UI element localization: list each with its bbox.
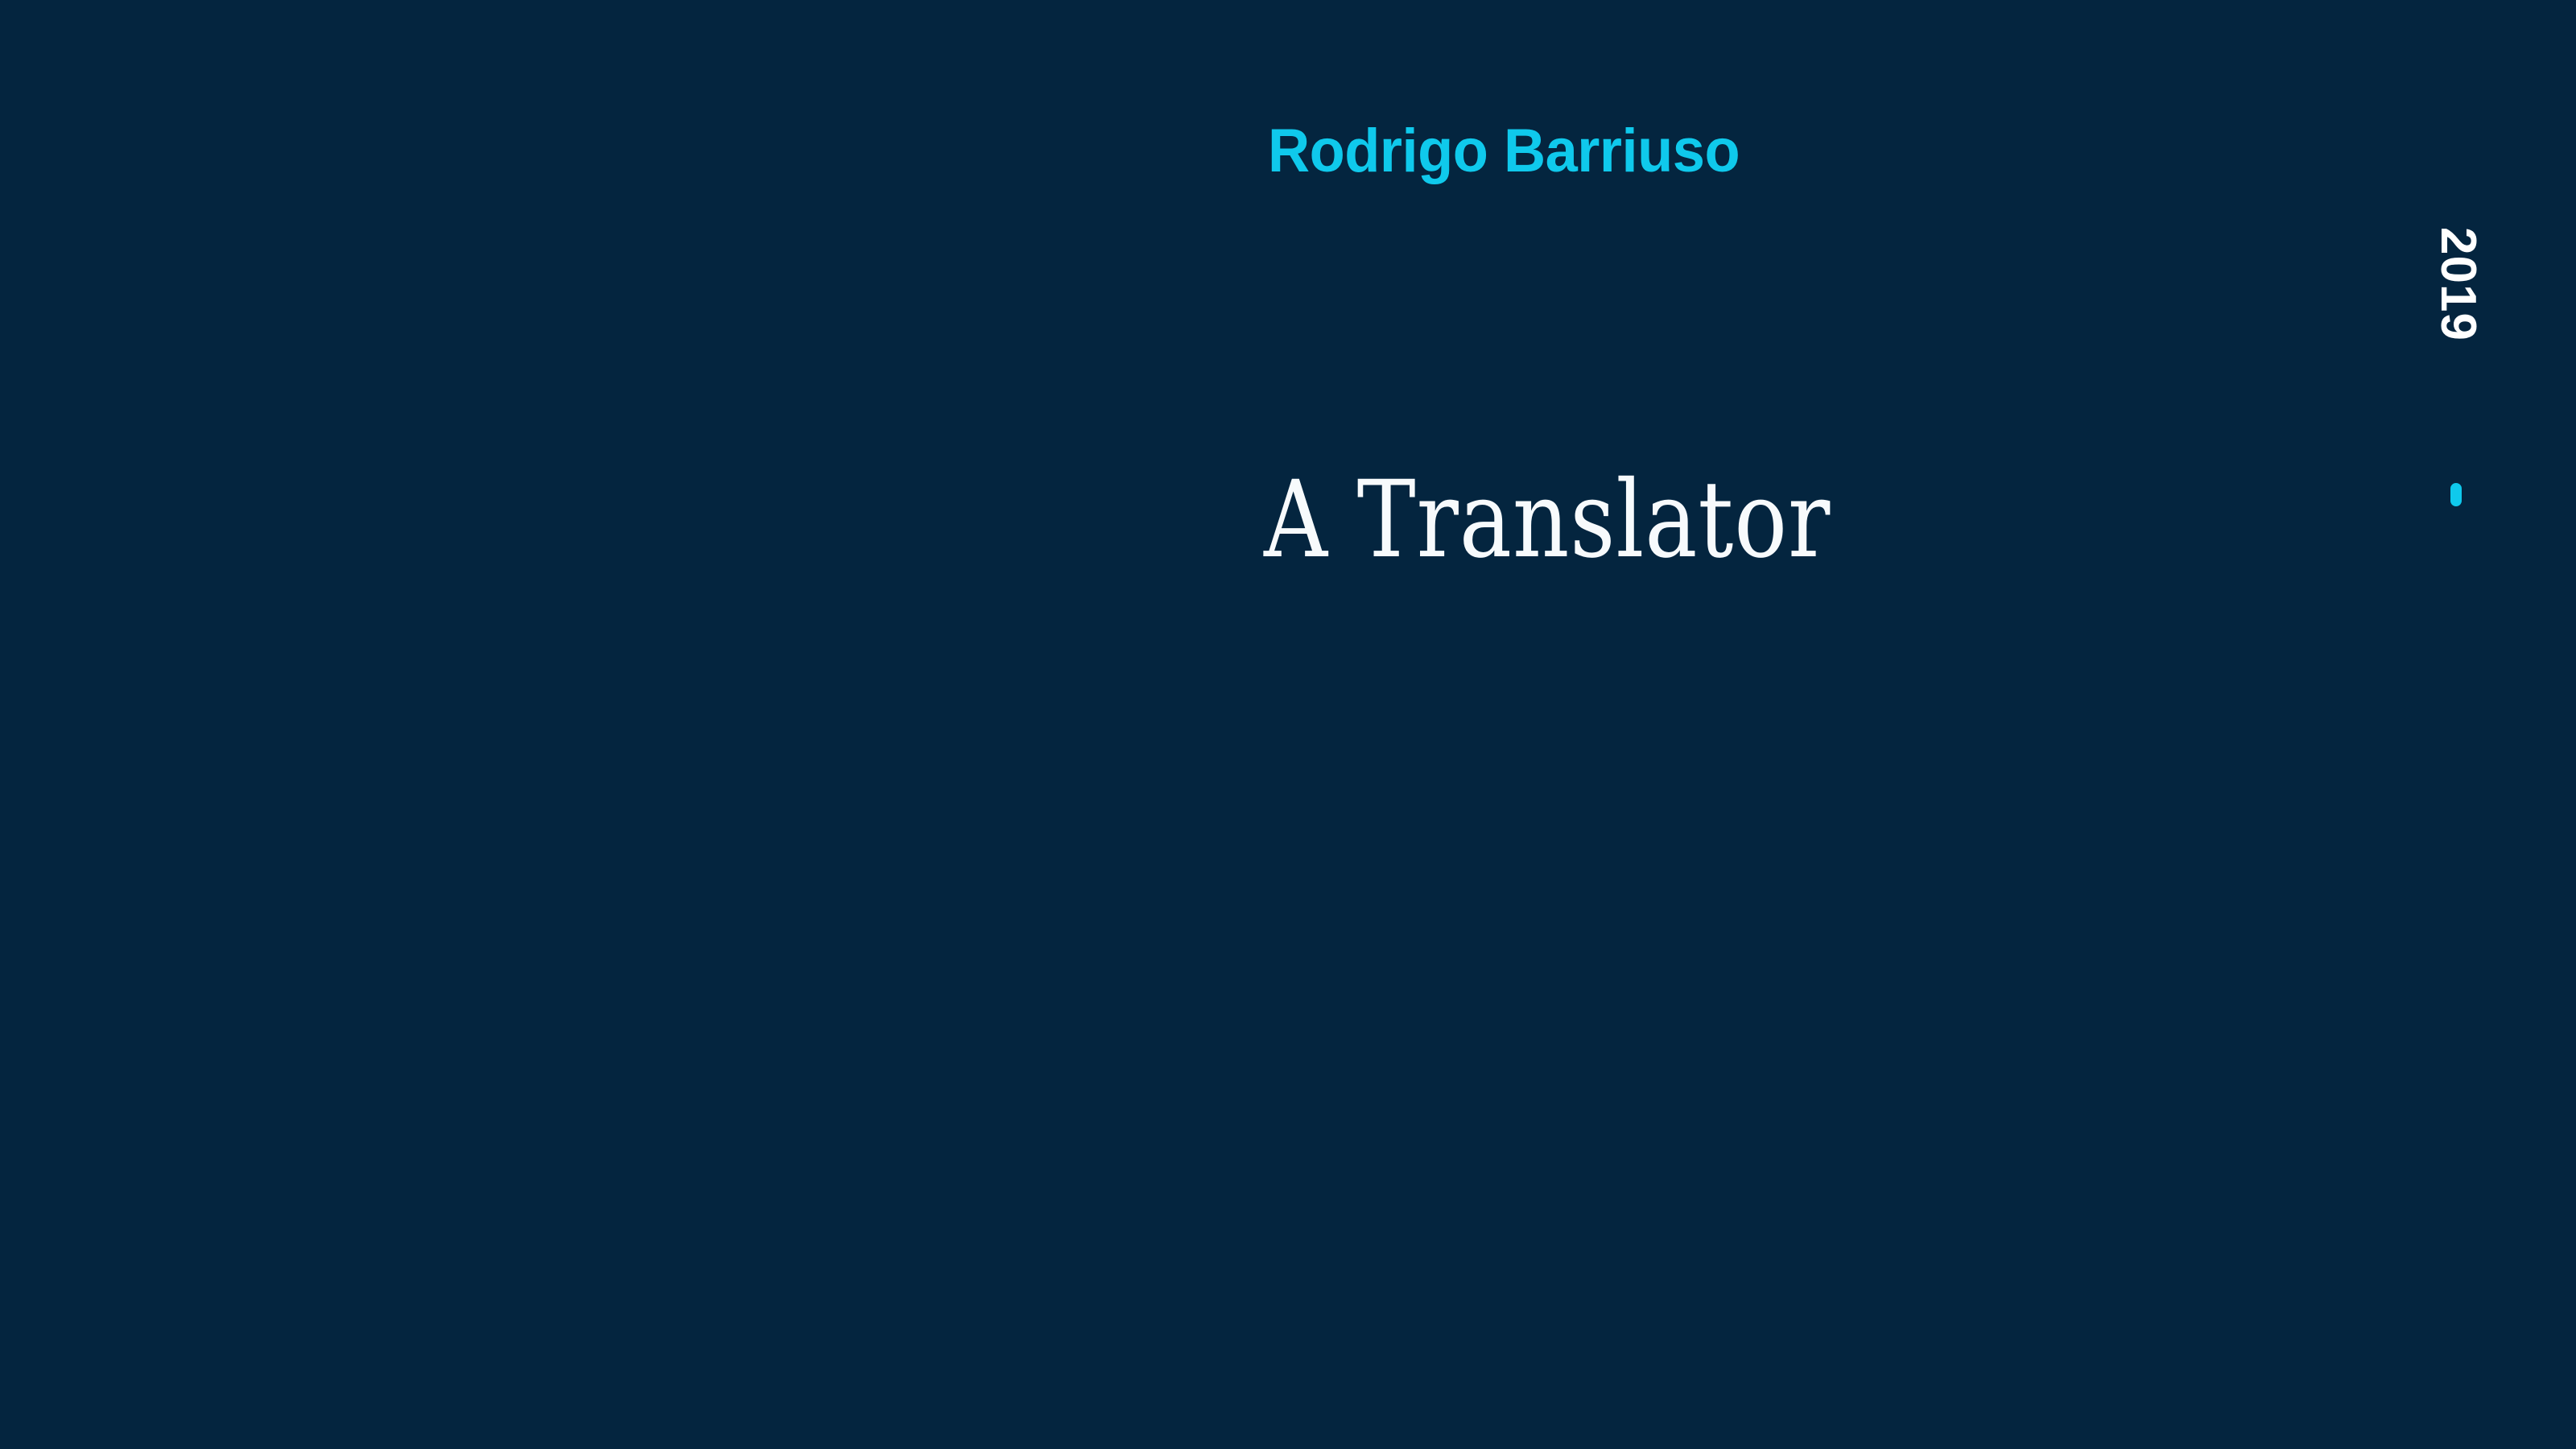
year-label: 2019 [2433,227,2483,341]
author-credit: Rodrigo Barriuso [1268,121,1740,182]
accent-dash-icon [2450,483,2462,506]
page-title: A Translator [1264,467,1831,573]
title-card: Rodrigo Barriuso A Translator 2019 [0,0,2576,1449]
